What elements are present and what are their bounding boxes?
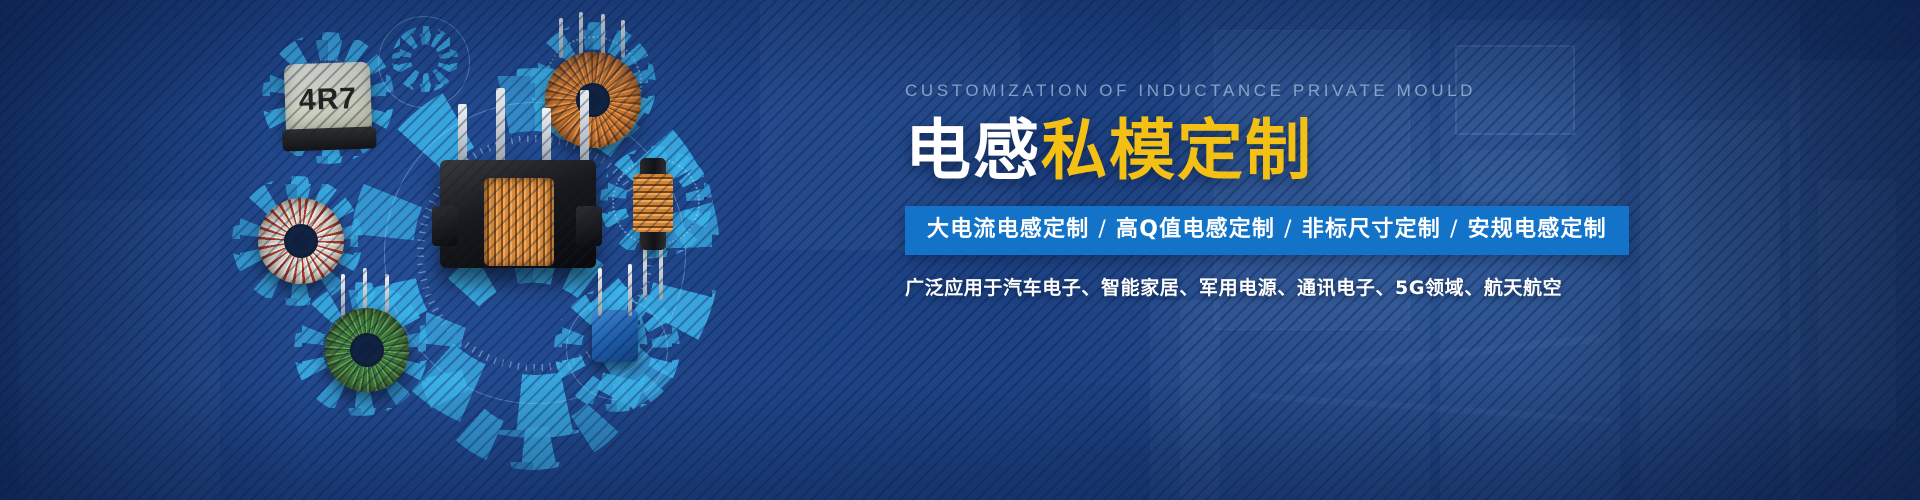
product-flat-wire-inductor bbox=[258, 198, 344, 284]
chip-marking: 4R7 bbox=[284, 62, 373, 139]
flat-wire-winding bbox=[258, 198, 344, 284]
product-smd-power-inductor: 4R7 bbox=[285, 63, 371, 137]
banner-eyebrow-english: CUSTOMIZATION OF INDUCTANCE PRIVATE MOUL… bbox=[905, 82, 1865, 99]
product-blue-radial-inductor bbox=[592, 310, 638, 362]
product-rod-core-choke bbox=[640, 158, 666, 250]
headline-yellow-part: 私模定制 bbox=[1041, 112, 1313, 189]
promo-banner: 4R7 bbox=[0, 0, 1920, 500]
feature-separator: / bbox=[1089, 217, 1116, 242]
chip-body: 4R7 bbox=[284, 62, 373, 139]
choke-copper-winding bbox=[484, 178, 554, 266]
rod-copper-winding bbox=[633, 174, 673, 232]
feature-bar-text: 大电流电感定制/高Q值电感定制/非标尺寸定制/安规电感定制 bbox=[927, 219, 1607, 241]
hud-ring-icon bbox=[392, 26, 458, 92]
feature-item-3[interactable]: 非标尺寸定制 bbox=[1302, 217, 1441, 242]
feature-bar[interactable]: 大电流电感定制/高Q值电感定制/非标尺寸定制/安规电感定制 bbox=[905, 206, 1629, 255]
green-toroid-winding bbox=[325, 308, 409, 392]
banner-headline: 电感私模定制 bbox=[905, 116, 1865, 186]
feature-item-2[interactable]: 高Q值电感定制 bbox=[1116, 217, 1275, 242]
banner-text-block: CUSTOMIZATION OF INDUCTANCE PRIVATE MOUL… bbox=[905, 82, 1865, 298]
feature-separator: / bbox=[1441, 217, 1468, 242]
machine-frame-shape bbox=[20, 200, 220, 500]
product-common-mode-choke-hero bbox=[418, 120, 618, 280]
headline-white-part: 电感 bbox=[905, 112, 1041, 189]
feature-separator: / bbox=[1275, 217, 1302, 242]
product-green-toroid-inductor bbox=[325, 308, 409, 392]
banner-subline-applications: 广泛应用于汽车电子、智能家居、军用电源、通讯电子、5G领域、航天航空 bbox=[905, 279, 1865, 298]
feature-item-4[interactable]: 安规电感定制 bbox=[1468, 217, 1607, 242]
blue-radial-body bbox=[592, 310, 638, 362]
rod-core-body bbox=[640, 158, 666, 250]
pipe-shape bbox=[1150, 300, 1220, 500]
feature-item-1[interactable]: 大电流电感定制 bbox=[927, 217, 1089, 242]
